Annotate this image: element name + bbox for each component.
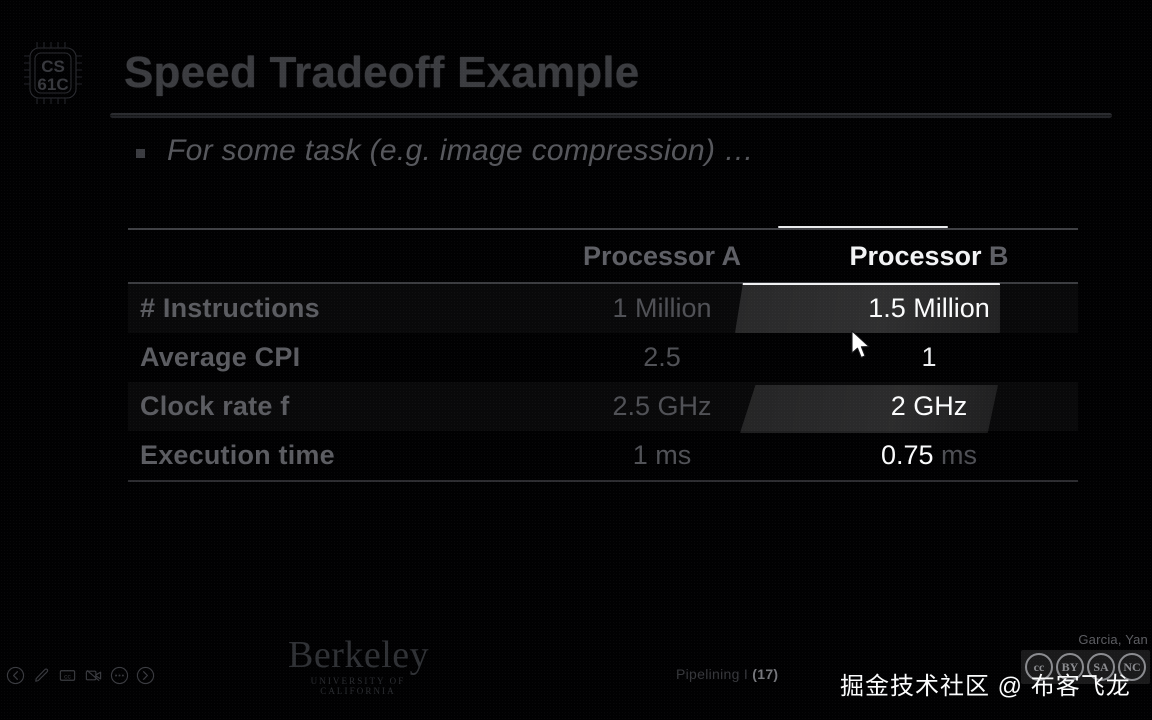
berkeley-subtitle: UNIVERSITY OF CALIFORNIA [288,676,428,696]
logo-text-61c: 61C [37,75,68,94]
cell-b-average-cpi: 1 [792,342,1066,373]
deck-title: Pipelining I [676,666,748,682]
slide-number: (17) [752,666,778,682]
berkeley-logo: Berkeley UNIVERSITY OF CALIFORNIA [288,636,428,696]
table-row: Execution time 1 ms 0.75 ms [128,431,1078,480]
svg-text:cc: cc [64,673,71,680]
next-slide-icon[interactable] [136,666,155,685]
logo-text-cs: CS [41,57,65,76]
cell-b-execution-time-unit: ms [934,440,978,470]
pen-tool-icon[interactable] [32,666,51,685]
bullet-item: For some task (e.g. image compression) … [136,134,754,168]
header-processor-b-bright: Processor [849,241,981,271]
slide-canvas: CS 61C Speed Tradeoff Example For some t… [0,0,1152,720]
row-label-average-cpi: Average CPI [128,342,532,373]
mouse-cursor [850,330,874,367]
cell-b-execution-time-number: 0.75 [881,440,934,470]
processor-b-header-underline [778,226,948,228]
row-label-instructions: # Instructions [128,293,532,324]
bullet-square-icon [136,149,145,158]
cell-b-execution-time: 0.75 ms [792,440,1066,471]
captions-icon[interactable]: cc [58,666,77,685]
table-row: Average CPI 2.5 1 [128,333,1078,382]
cell-a-average-cpi: 2.5 [532,342,792,373]
camera-off-icon[interactable] [84,666,103,685]
cs61c-chip-logo: CS 61C [14,28,92,123]
table-bottom-rule [128,480,1078,482]
author-credit: Garcia, Yan [1078,632,1148,647]
header-cell-processor-b: Processor B [792,241,1066,272]
header-cell-processor-a: Processor A [532,241,792,272]
watermark-text: 掘金技术社区 @ 布客飞龙 [840,666,1131,701]
previous-slide-icon[interactable] [6,666,25,685]
cell-b-instructions: 1.5 Million [792,293,1066,324]
deck-footer: Pipelining I (17) [676,666,778,682]
row-label-clock-rate: Clock rate f [128,391,532,422]
header-processor-b-dim: B [982,241,1009,271]
row-label-execution-time: Execution time [128,440,532,471]
page-title: Speed Tradeoff Example [124,48,639,98]
cell-a-execution-time: 1 ms [532,440,792,471]
comparison-table: Processor A Processor B # Instructions 1… [128,228,1078,482]
bullet-text: For some task (e.g. image compression) … [167,134,754,168]
berkeley-wordmark: Berkeley [288,636,428,674]
more-options-icon[interactable] [110,666,129,685]
table-header-row: Processor A Processor B [128,230,1078,282]
presenter-toolbar[interactable]: cc [6,666,155,685]
title-divider [110,113,1112,118]
cell-b-clock-rate: 2 GHz [792,391,1066,422]
